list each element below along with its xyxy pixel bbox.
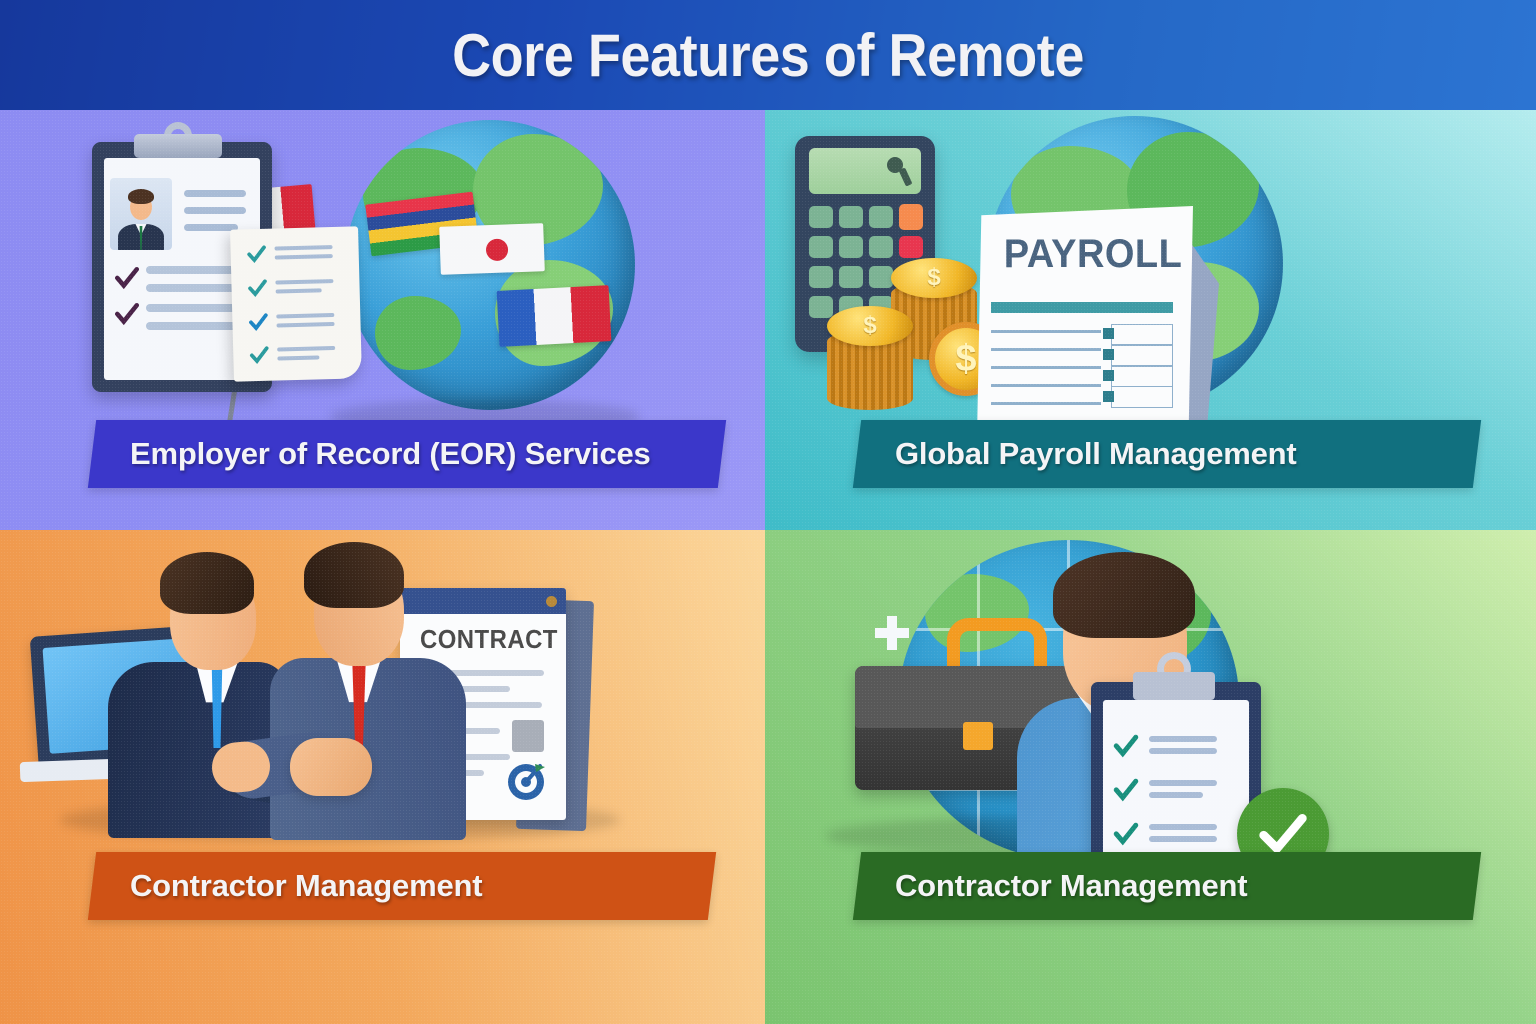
label-banner-eor[interactable]: Employer of Record (EOR) Services (88, 420, 726, 488)
handshake (290, 738, 372, 796)
check-icon (246, 245, 267, 266)
quadrant-contractor-left[interactable]: CONTRACT (0, 530, 765, 1024)
seal-emblem-icon (504, 758, 548, 802)
check-icon (248, 313, 269, 334)
calculator-display (809, 148, 921, 194)
quadrant-payroll[interactable]: $ $ $ PAYROLL (765, 110, 1536, 530)
label-text-eor: Employer of Record (EOR) Services (92, 436, 651, 472)
payroll-document-title: PAYROLL (1004, 232, 1183, 277)
header-banner: Core Features of Remote (0, 0, 1536, 110)
businessman-blue-suit (256, 530, 486, 840)
label-banner-contractor-left[interactable]: Contractor Management (88, 852, 716, 920)
page-title: Core Features of Remote (77, 0, 1459, 110)
label-text-contractor-left: Contractor Management (92, 868, 482, 904)
plus-marker-icon (875, 616, 909, 650)
check-icon (1113, 734, 1139, 760)
label-banner-payroll[interactable]: Global Payroll Management (853, 420, 1481, 488)
infographic-root: Core Features of Remote (0, 0, 1536, 1024)
quadrant-eor[interactable]: Employer of Record (EOR) Services (0, 110, 765, 530)
check-icon (249, 346, 270, 367)
quadrant-contractor-right[interactable]: Contractor Management (765, 530, 1536, 1024)
label-text-payroll: Global Payroll Management (857, 436, 1297, 472)
check-icon (247, 279, 268, 300)
payroll-document: PAYROLL (977, 206, 1193, 436)
clipboard-clip (134, 134, 222, 158)
id-photo (110, 178, 172, 250)
check-icon (1113, 778, 1139, 804)
label-text-contractor-right: Contractor Management (857, 868, 1247, 904)
check-icon (114, 266, 140, 292)
quadrant-grid: Employer of Record (EOR) Services (0, 110, 1536, 1024)
check-icon (114, 302, 140, 328)
flag-france (497, 285, 612, 347)
check-icon (1113, 822, 1139, 848)
label-banner-contractor-right[interactable]: Contractor Management (853, 852, 1481, 920)
flag-japan (439, 223, 545, 275)
